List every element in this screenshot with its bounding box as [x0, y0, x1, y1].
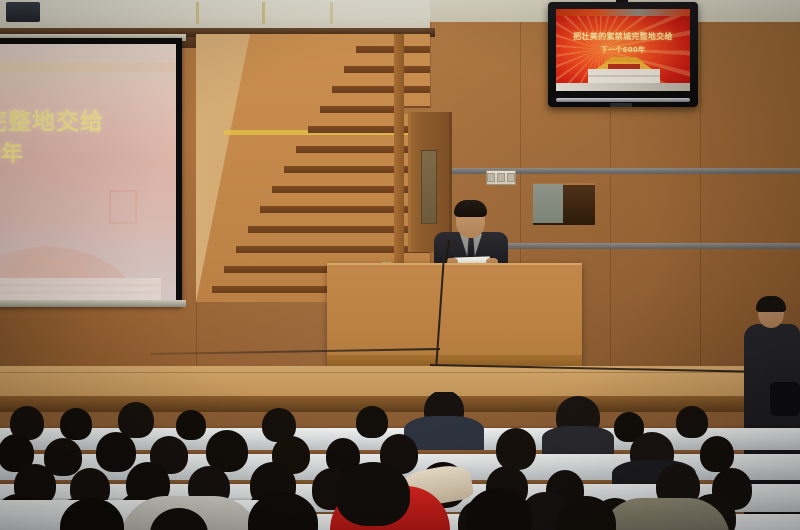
tv-bezel-strip: [556, 98, 690, 102]
audience-head: [496, 428, 536, 470]
wall-panel-green: [533, 184, 563, 223]
projection-screen-text: 城完整地交给 600年: [0, 106, 176, 171]
audience-head: [96, 432, 136, 472]
audience-head: [176, 410, 206, 440]
tv-slide-text: 把壮美的紫禁城完整地交给 下一个600年: [556, 29, 690, 57]
screen-line-2: 600年: [0, 139, 176, 171]
forbidden-city-illustration-left: [0, 228, 161, 300]
screen-bottom-bar: [0, 300, 186, 307]
projector-bracket-icon: [6, 2, 40, 22]
audience-head: [676, 406, 708, 438]
seated-audience: [0, 392, 800, 530]
tv-screen: 把壮美的紫禁城完整地交给 下一个600年: [556, 9, 690, 91]
audience-head: [356, 406, 388, 438]
wall-socket-icon[interactable]: [486, 170, 516, 185]
audience-shoulder: [542, 426, 614, 456]
audience-head: [700, 436, 734, 472]
slide-seal-mark: [109, 190, 137, 224]
tv-slide-line-2: 下一个600年: [556, 44, 690, 57]
audience-head: [336, 462, 410, 526]
ceiling-valance: [0, 0, 430, 30]
wooden-podium: [327, 263, 582, 369]
screen-line-1: 城完整地交给: [0, 109, 104, 135]
audience-head: [60, 408, 92, 440]
stage-staircase[interactable]: [196, 34, 430, 302]
eyeglasses-icon: [457, 214, 484, 220]
left-projection-screen: 城完整地交给 600年: [0, 44, 176, 300]
tv-slide-line-1: 把壮美的紫禁城完整地交给: [573, 32, 673, 41]
tv-brand-badge: [610, 103, 632, 107]
wall-mounted-lcd-tv: 把壮美的紫禁城完整地交给 下一个600年: [548, 2, 698, 107]
forbidden-city-illustration-tv: [582, 55, 666, 83]
wall-trim-upper: [415, 168, 800, 174]
auditorium-photo: 城完整地交给 600年 把壮美的紫禁城完整地交给 下一个600年: [0, 0, 800, 530]
